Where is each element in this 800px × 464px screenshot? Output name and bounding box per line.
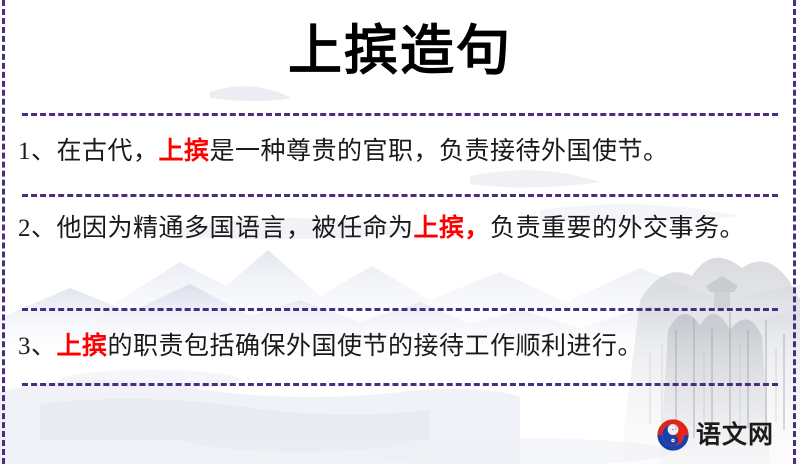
- sentence-list: 1、在古代，上摈是一种尊贵的官职，负责接待外国使节。 2、他因为精通多国语言，被…: [18, 113, 782, 383]
- sentence-index: 2、: [18, 215, 57, 242]
- site-logo-text: 语文网: [696, 423, 774, 448]
- sentence-index: 1、: [18, 138, 57, 165]
- sentence-index: 3、: [18, 333, 57, 360]
- sentence-text-after: 的职责包括确保外国使节的接待工作顺利进行。: [108, 333, 644, 360]
- list-item: 3、上摈的职责包括确保外国使节的接待工作顺利进行。: [18, 308, 782, 383]
- sentence-text-after: 是一种尊贵的官职，负责接待外国使节。: [210, 138, 669, 165]
- sentence-text-before: 他因为精通多国语言，被任命为: [57, 215, 414, 242]
- list-item: 2、他因为精通多国语言，被任命为上摈，负责重要的外交事务。: [18, 194, 782, 308]
- list-item: 1、在古代，上摈是一种尊贵的官职，负责接待外国使节。: [18, 113, 782, 194]
- keyword-highlight: 上摈: [159, 138, 210, 165]
- page-title: 上摈造句: [0, 18, 800, 84]
- divider-4: [22, 383, 778, 386]
- slide-page: 上摈造句 1、在古代，上摈是一种尊贵的官职，负责接待外国使节。 2、他因为精通多…: [0, 0, 800, 464]
- yinyang-fish-logo-icon: [656, 418, 690, 452]
- sentence-text-after: 负责重要的外交事务。: [490, 215, 745, 242]
- keyword-highlight: 上摈: [57, 333, 108, 360]
- sentence-text-before: 在古代，: [57, 138, 159, 165]
- site-logo[interactable]: 语文网: [656, 418, 774, 452]
- keyword-highlight: 上摈，: [414, 215, 491, 242]
